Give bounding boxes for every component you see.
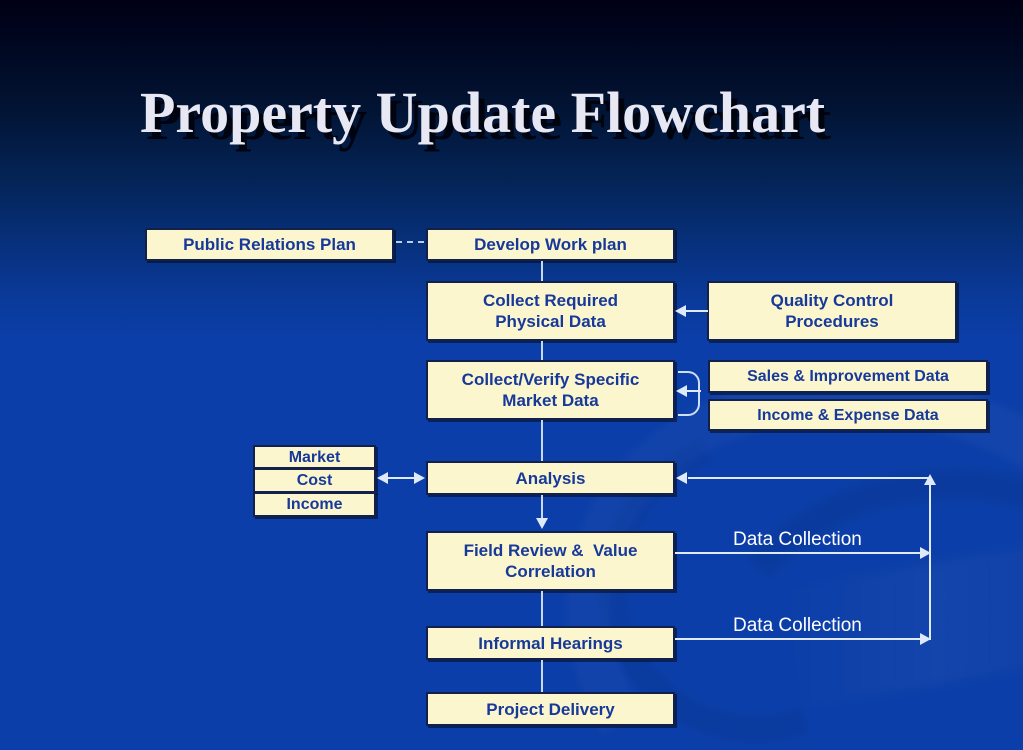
connector-workplan-to-physical bbox=[541, 261, 543, 281]
dashed-connector-icon bbox=[396, 241, 424, 243]
connector-approaches-to-analysis bbox=[388, 477, 416, 479]
connector-hearings-to-delivery bbox=[541, 660, 543, 692]
node-analysis[interactable]: Analysis bbox=[426, 461, 675, 495]
arrow-left-icon bbox=[676, 385, 687, 397]
arrow-left-icon bbox=[377, 472, 388, 484]
node-field-review-value-correlation[interactable]: Field Review & Value Correlation bbox=[426, 531, 675, 591]
node-collect-required-physical-data[interactable]: Collect Required Physical Data bbox=[426, 281, 675, 341]
node-approach-market[interactable]: Market bbox=[253, 445, 376, 469]
feedback-rail-vertical bbox=[929, 478, 931, 640]
arrow-right-icon bbox=[414, 472, 425, 484]
node-sales-improvement-data[interactable]: Sales & Improvement Data bbox=[708, 360, 988, 393]
connector-market-to-analysis bbox=[541, 420, 543, 461]
connector-brace-stem bbox=[687, 390, 701, 392]
arrow-left-icon bbox=[675, 305, 686, 317]
arrow-up-icon bbox=[924, 474, 936, 485]
label-data-collection-lower: Data Collection bbox=[733, 615, 862, 637]
node-public-relations-plan[interactable]: Public Relations Plan bbox=[145, 228, 394, 261]
flowchart-slide: Property Update Flowchart Public Relatio… bbox=[0, 0, 1023, 750]
feedback-line-field-review bbox=[675, 552, 926, 554]
page-title: Property Update Flowchart bbox=[140, 78, 900, 148]
node-income-expense-data[interactable]: Income & Expense Data bbox=[708, 399, 988, 431]
connector-field-review-to-hearings bbox=[541, 591, 543, 626]
background-swirl-decoration bbox=[675, 438, 1023, 750]
node-collect-verify-specific-market-data[interactable]: Collect/Verify Specific Market Data bbox=[426, 360, 675, 420]
feedback-line-to-analysis bbox=[688, 477, 931, 479]
connector-qc-to-physical bbox=[686, 310, 708, 312]
node-develop-work-plan[interactable]: Develop Work plan bbox=[426, 228, 675, 261]
arrow-left-icon bbox=[676, 472, 687, 484]
arrow-down-icon bbox=[536, 518, 548, 529]
node-quality-control-procedures[interactable]: Quality Control Procedures bbox=[707, 281, 957, 341]
node-project-delivery[interactable]: Project Delivery bbox=[426, 692, 675, 726]
node-approach-cost[interactable]: Cost bbox=[253, 468, 376, 493]
node-informal-hearings[interactable]: Informal Hearings bbox=[426, 626, 675, 660]
feedback-line-informal-hearings bbox=[675, 638, 926, 640]
label-data-collection-upper: Data Collection bbox=[733, 529, 862, 551]
node-approach-income[interactable]: Income bbox=[253, 492, 376, 517]
connector-physical-to-market bbox=[541, 341, 543, 360]
